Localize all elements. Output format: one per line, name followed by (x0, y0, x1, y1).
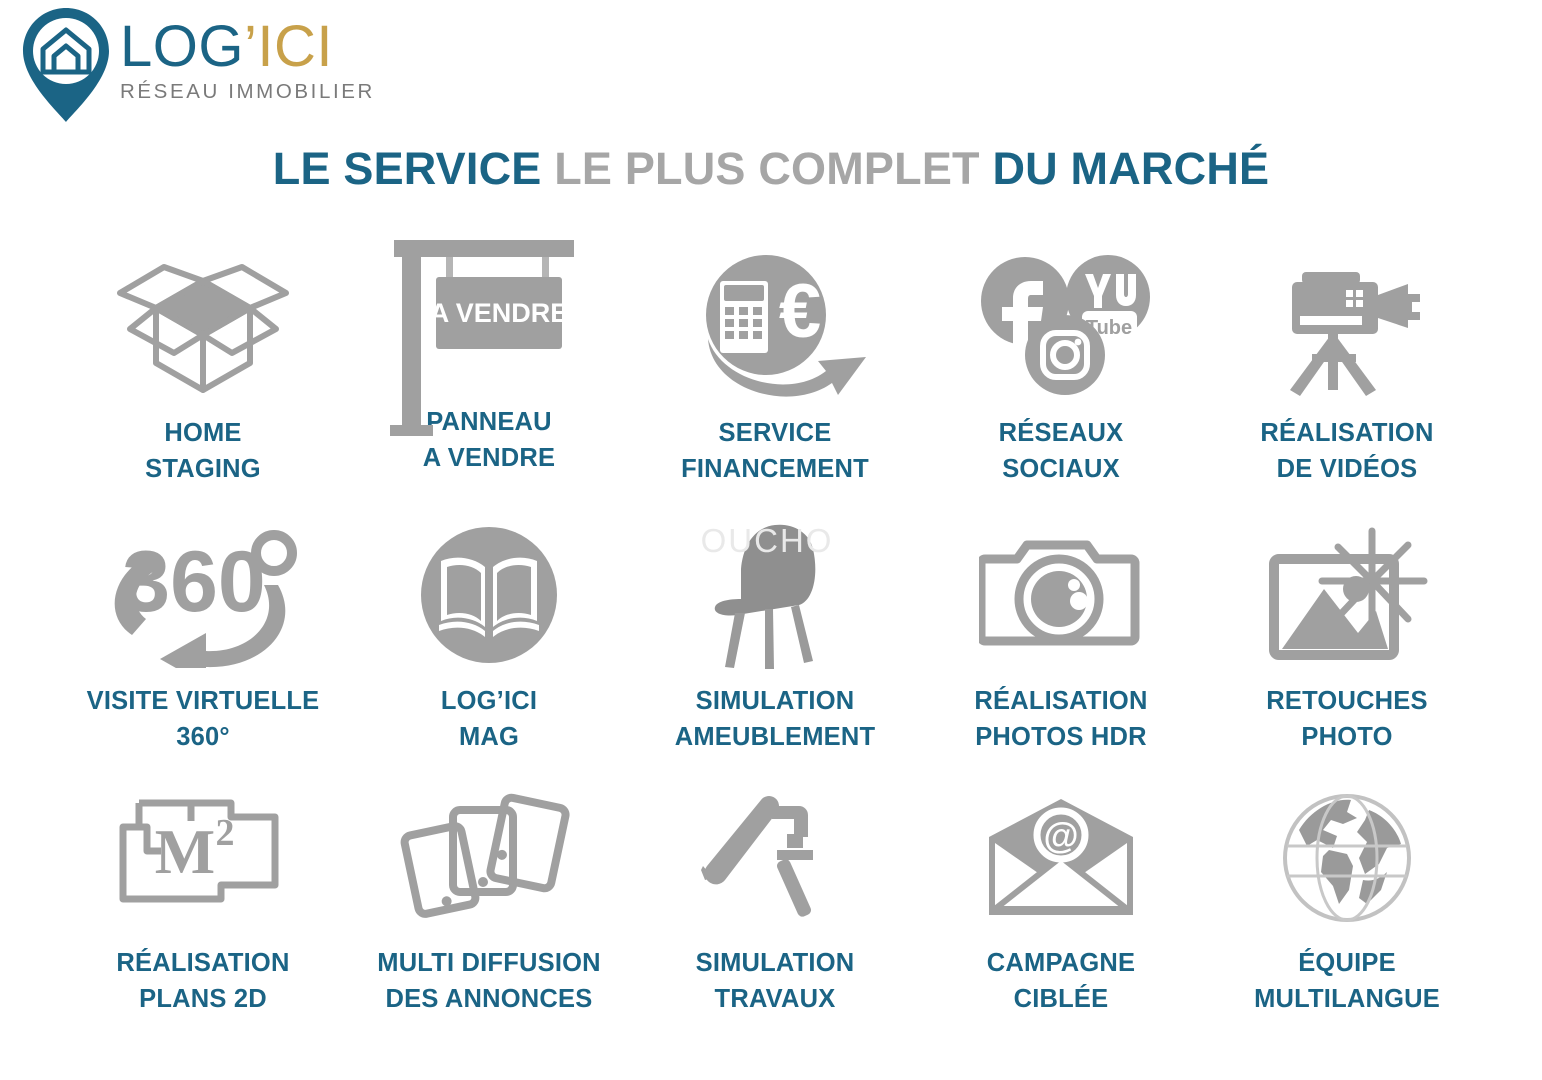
icon-container: @ (979, 780, 1144, 935)
service-label: VISITE VIRTUELLE 360° (87, 683, 320, 755)
icon-container: OUCHO (695, 518, 855, 673)
svg-text:€: € (778, 269, 820, 354)
service-item-campagne-ciblee[interactable]: @ CAMPAGNE CIBLÉE (918, 780, 1204, 1040)
logo-word-ici: ICI (257, 14, 333, 79)
service-label: RÉSEAUX SOCIAUX (999, 415, 1124, 487)
video-camera-tripod-icon (1260, 250, 1435, 405)
icon-container (979, 518, 1144, 673)
service-label-line1: RÉALISATION (116, 945, 289, 981)
sign-text: A VENDRE (430, 298, 569, 328)
logo-word-log: LOG (120, 14, 244, 79)
service-label-line1: SERVICE (681, 415, 869, 451)
service-label: SIMULATION AMEUBLEMENT (675, 683, 876, 755)
icon-container (1262, 518, 1432, 673)
icon-container (695, 780, 855, 935)
service-item-simulation-travaux[interactable]: SIMULATION TRAVAUX (632, 780, 918, 1040)
service-item-visite-virtuelle-360[interactable]: 360 VISITE VIRTUELLE 360° (60, 518, 346, 780)
service-label-line2: CIBLÉE (987, 981, 1135, 1017)
chair-icon (695, 521, 855, 671)
service-label-line1: CAMPAGNE (987, 945, 1135, 981)
icon-container: 360 (96, 518, 311, 673)
instagram-icon (1025, 315, 1105, 395)
icon-container (112, 250, 294, 405)
icon-container (1277, 780, 1417, 935)
service-item-simulation-ameublement[interactable]: OUCHO SIMULATION AMEUBLEMENT (632, 518, 918, 780)
service-label-line1: SIMULATION (675, 683, 876, 719)
service-label: LOG’ICI MAG (441, 683, 537, 755)
service-label: CAMPAGNE CIBLÉE (987, 945, 1135, 1017)
service-label-line2: PHOTOS HDR (974, 719, 1147, 755)
service-label-line2: DES ANNONCES (377, 981, 601, 1017)
service-label-line1: HOME (145, 415, 261, 451)
envelope-at-icon: @ (979, 793, 1144, 923)
service-label-line2: TRAVAUX (696, 981, 855, 1017)
photo-camera-icon (979, 531, 1144, 661)
paint-roller-icon (695, 788, 855, 928)
service-label-line2: AMEUBLEMENT (675, 719, 876, 755)
floorplan-m2-icon: M 2 (113, 793, 293, 923)
service-label-line1: RÉALISATION (974, 683, 1147, 719)
service-label-line2: MULTILANGUE (1254, 981, 1440, 1017)
service-label: MULTI DIFFUSION DES ANNONCES (377, 945, 601, 1017)
service-label-line1: RETOUCHES (1266, 683, 1427, 719)
service-label-line2: PLANS 2D (116, 981, 289, 1017)
service-item-logici-mag[interactable]: LOG’ICI MAG (346, 518, 632, 780)
picture-sparkle-icon (1262, 523, 1432, 668)
service-item-retouches-photo[interactable]: RETOUCHES PHOTO (1204, 518, 1490, 780)
service-label-line1: MULTI DIFFUSION (377, 945, 601, 981)
service-label-line1: RÉSEAUX (999, 415, 1124, 451)
service-label-line2: FINANCEMENT (681, 451, 869, 487)
social-networks-icon: Tube (961, 253, 1161, 403)
page-title: LE SERVICE LE PLUS COMPLET DU MARCHÉ (0, 143, 1542, 195)
service-item-realisation-plans-2d[interactable]: M 2 RÉALISATION PLANS 2D (60, 780, 346, 1040)
for-sale-sign-icon: A VENDRE (384, 222, 594, 452)
service-label-line2: PHOTO (1266, 719, 1427, 755)
logo-apostrophe: ’ (244, 14, 257, 79)
service-item-reseaux-sociaux[interactable]: Tube RÉSEAUX SOCIAUX (918, 250, 1204, 518)
service-label: HOME STAGING (145, 415, 261, 487)
icon-container: Tube (961, 250, 1161, 405)
service-item-realisation-photos-hdr[interactable]: RÉALISATION PHOTOS HDR (918, 518, 1204, 780)
icon-container (397, 780, 582, 935)
service-label-line2: STAGING (145, 451, 261, 487)
icon-container: M 2 (113, 780, 293, 935)
tablets-devices-icon (397, 790, 582, 925)
service-label-line2: MAG (441, 719, 537, 755)
service-label: SERVICE FINANCEMENT (681, 415, 869, 487)
360-degrees-icon: 360 (96, 523, 311, 668)
house-location-pin-icon (18, 6, 114, 124)
service-item-home-staging[interactable]: HOME STAGING (60, 250, 346, 518)
title-part-2: LE PLUS COMPLET (554, 143, 980, 194)
service-label: RÉALISATION DE VIDÉOS (1260, 415, 1433, 487)
service-item-multi-diffusion[interactable]: MULTI DIFFUSION DES ANNONCES (346, 780, 632, 1040)
logo-tagline: RÉSEAU IMMOBILIER (120, 80, 375, 104)
service-label: RÉALISATION PHOTOS HDR (974, 683, 1147, 755)
service-label-line2: SOCIAUX (999, 451, 1124, 487)
icon-container: A VENDRE (384, 232, 594, 442)
service-item-service-financement[interactable]: € SERVICE FINANCEMENT (632, 250, 918, 518)
icon-container (417, 518, 562, 673)
service-label-line2: DE VIDÉOS (1260, 451, 1433, 487)
service-label: RÉALISATION PLANS 2D (116, 945, 289, 1017)
service-label-line1: LOG’ICI (441, 683, 537, 719)
brand-logo: LOG’ICI RÉSEAU IMMOBILIER (18, 6, 375, 126)
services-grid: HOME STAGING A VENDRE PANNEAU A VENDRE (60, 250, 1490, 1040)
service-label-line1: RÉALISATION (1260, 415, 1433, 451)
icon-container: € (678, 250, 873, 405)
title-part-3: DU MARCHÉ (992, 143, 1269, 194)
globe-icon (1277, 788, 1417, 928)
service-item-panneau-a-vendre[interactable]: A VENDRE PANNEAU A VENDRE (346, 250, 632, 518)
open-book-icon (417, 523, 562, 668)
service-label: SIMULATION TRAVAUX (696, 945, 855, 1017)
service-label-line1: SIMULATION (696, 945, 855, 981)
svg-text:360: 360 (122, 534, 266, 630)
svg-text:M: M (155, 816, 215, 887)
service-label-line1: ÉQUIPE (1254, 945, 1440, 981)
service-item-equipe-multilangue[interactable]: ÉQUIPE MULTILANGUE (1204, 780, 1490, 1040)
icon-container (1260, 250, 1435, 405)
open-box-icon (112, 253, 294, 403)
service-item-realisation-de-videos[interactable]: RÉALISATION DE VIDÉOS (1204, 250, 1490, 518)
svg-text:2: 2 (216, 812, 235, 854)
service-label: ÉQUIPE MULTILANGUE (1254, 945, 1440, 1017)
euro-calculator-icon: € (678, 253, 873, 403)
service-label: RETOUCHES PHOTO (1266, 683, 1427, 755)
title-part-1: LE SERVICE (273, 143, 542, 194)
svg-text:@: @ (1043, 815, 1078, 856)
service-label-line2: 360° (87, 719, 320, 755)
service-label-line1: VISITE VIRTUELLE (87, 683, 320, 719)
